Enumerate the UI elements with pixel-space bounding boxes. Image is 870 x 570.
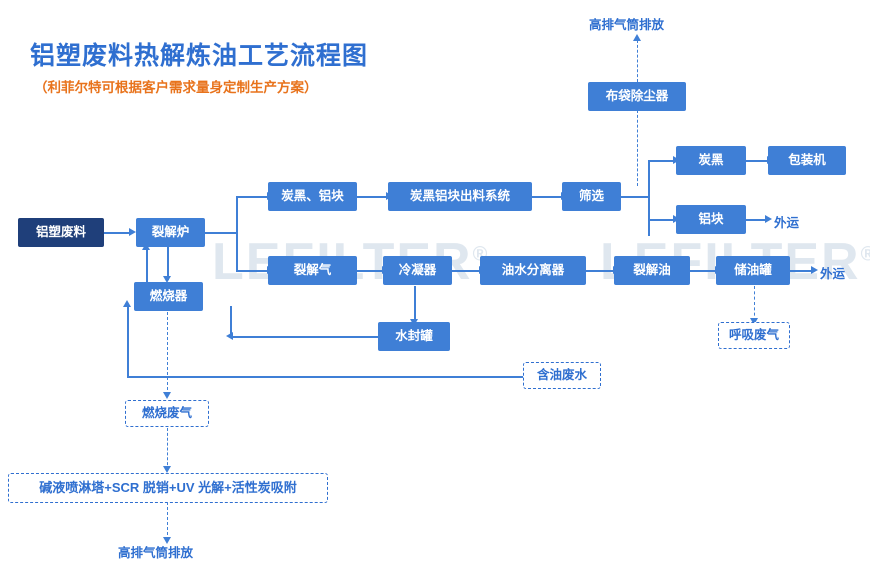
connector-condenser-separator [452, 270, 480, 272]
connector-discharge-screen [532, 196, 562, 198]
connector-to-carbonblack [648, 160, 674, 162]
node-packing-machine[interactable]: 包装机 [768, 146, 846, 175]
node-aluminum-block[interactable]: 铝块 [676, 205, 746, 234]
connector-crackgas-condenser [357, 270, 383, 272]
arrow-waterseal-left [226, 332, 233, 340]
node-breathing-gas[interactable]: 呼吸废气 [718, 322, 790, 349]
node-bag-filter[interactable]: 布袋除尘器 [588, 82, 686, 111]
connector-crackoil-oiltank [690, 270, 716, 272]
connector-fluegas-treatment [167, 428, 168, 470]
connector-waterseal-to-burner-h [230, 336, 378, 338]
flow-diagram-canvas: 铝塑废料热解炼油工艺流程图 （利菲尔特可根据客户需求量身定制生产方案） LEFI… [0, 0, 870, 570]
connector-to-alublock [648, 219, 674, 221]
node-water-seal-tank[interactable]: 水封罐 [378, 322, 450, 351]
node-exhaust-treatment[interactable]: 碱液喷淋塔+SCR 脱销+UV 光解+活性炭吸附 [8, 473, 328, 503]
node-screening[interactable]: 筛选 [562, 182, 621, 211]
node-cracker[interactable]: 裂解炉 [136, 218, 205, 247]
connector-separator-crackoil [586, 270, 614, 272]
connector-feed-cracker [104, 232, 130, 234]
connector-carbonblack-packer [746, 160, 768, 162]
connector-to-carbon-alu [236, 196, 268, 198]
connector-cracker-burner [167, 246, 169, 280]
label-export-aluminum: 外运 [774, 212, 799, 231]
node-oily-wastewater[interactable]: 含油废水 [523, 362, 601, 389]
node-flue-gas[interactable]: 燃烧废气 [125, 400, 209, 427]
node-cracked-gas[interactable]: 裂解气 [268, 256, 357, 285]
connector-oilywater-h [127, 376, 523, 378]
node-condenser[interactable]: 冷凝器 [383, 256, 452, 285]
arrow-oilywater-up [123, 300, 131, 307]
connector-screen-split [648, 160, 650, 236]
connector-cracker-split [236, 196, 238, 272]
arrow-baghouse-stack [633, 34, 641, 41]
node-carbon-alu[interactable]: 炭黑、铝块 [268, 182, 357, 211]
connector-condenser-waterseal [414, 286, 416, 322]
connector-screen-out [621, 196, 649, 198]
connector-cracker-out [205, 232, 237, 234]
node-burner[interactable]: 燃烧器 [134, 282, 203, 311]
connector-carbonalu-discharge [357, 196, 387, 198]
connector-burner-cracker [146, 248, 148, 286]
page-subtitle: （利菲尔特可根据客户需求量身定制生产方案） [34, 76, 318, 96]
node-oil-water-separator[interactable]: 油水分离器 [480, 256, 586, 285]
connector-oilywater-v [127, 306, 129, 377]
node-oil-storage-tank[interactable]: 储油罐 [716, 256, 790, 285]
connector-screen-baghouse [637, 110, 638, 186]
watermark-reg: ® [861, 244, 870, 266]
arrow-oiltank-export [811, 266, 818, 274]
label-stack-emission-top: 高排气筒排放 [589, 14, 664, 33]
connector-alublock-export [746, 219, 766, 221]
arrow-fluegas-treatment [163, 466, 171, 473]
arrow-feed-cracker [129, 228, 136, 236]
page-title: 铝塑废料热解炼油工艺流程图 [30, 36, 368, 72]
node-feed[interactable]: 铝塑废料 [18, 218, 104, 247]
connector-baghouse-stack [637, 40, 638, 82]
connector-to-crackgas [236, 270, 268, 272]
arrow-burner-fluegas [163, 392, 171, 399]
connector-treatment-stack [167, 502, 168, 540]
arrow-alublock-export [765, 215, 772, 223]
node-discharge-system[interactable]: 炭黑铝块出料系统 [388, 182, 532, 211]
label-export-oil: 外运 [820, 263, 845, 282]
label-stack-emission-bottom: 高排气筒排放 [118, 542, 193, 561]
connector-oiltank-breathgas [754, 286, 755, 321]
connector-oiltank-export [790, 270, 812, 272]
connector-burner-fluegas [167, 312, 168, 395]
node-cracked-oil[interactable]: 裂解油 [614, 256, 690, 285]
node-carbon-black[interactable]: 炭黑 [676, 146, 746, 175]
